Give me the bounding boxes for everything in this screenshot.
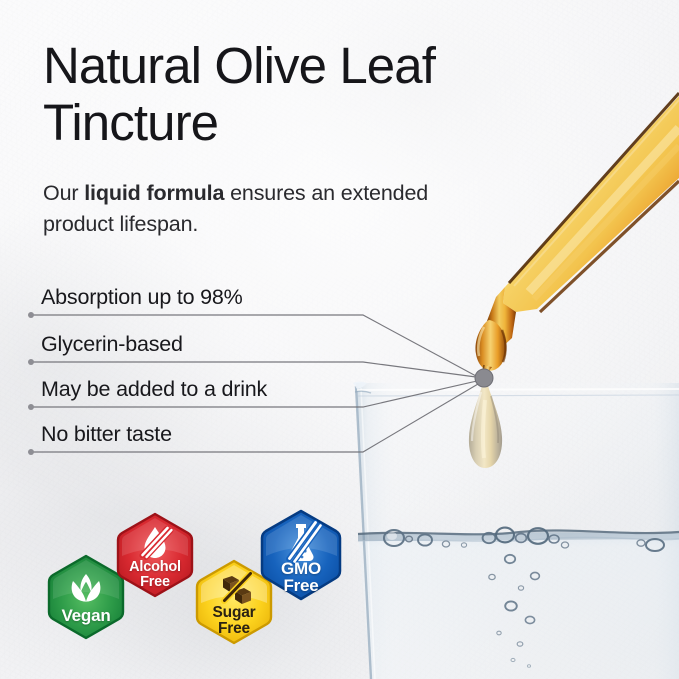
badge-vegan: Vegan	[46, 554, 126, 640]
subtitle-part-before: Our	[43, 181, 84, 205]
badge-vegan-hex: Vegan	[46, 554, 126, 640]
leaf-icon	[46, 554, 126, 640]
infographic-canvas: Natural Olive Leaf Tincture Our liquid f…	[0, 0, 679, 679]
feature-item-2: May be added to a drink	[41, 377, 267, 402]
feature-item-1: Glycerin-based	[41, 332, 183, 357]
feature-item-0: Absorption up to 98%	[41, 285, 243, 310]
badge-alcohol-free: Alcohol Free	[115, 512, 195, 598]
product-subtitle: Our liquid formula ensures an extended p…	[43, 178, 443, 240]
subtitle-emphasis: liquid formula	[84, 181, 224, 205]
page-title: Natural Olive Leaf Tincture	[43, 38, 513, 151]
badge-alcohol-free-hex: Alcohol Free	[115, 512, 195, 598]
feature-item-3: No bitter taste	[41, 422, 172, 447]
flask-slash-icon	[258, 509, 344, 601]
droplet-slash-icon	[115, 512, 195, 598]
badge-gmo-free-hex: GMO Free	[258, 509, 344, 601]
badge-gmo-free: GMO Free	[258, 509, 344, 601]
